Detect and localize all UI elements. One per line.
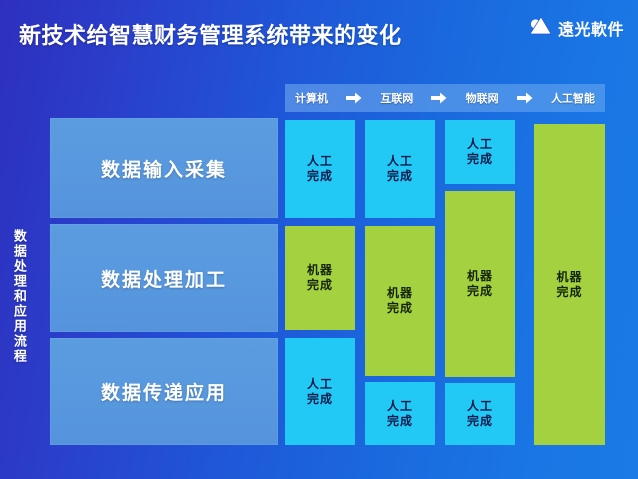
matrix-cell-human-2: 人工 完成 (285, 338, 355, 445)
brand-name: 遠光軟件 (558, 16, 624, 40)
stage-label-0: 计算机 (295, 90, 328, 106)
arrow-right-icon (431, 92, 447, 104)
matrix-cell-label: 人工 完成 (467, 399, 493, 429)
row-label-data-processing: 数据处理加工 (50, 224, 278, 332)
matrix-cell-human-3: 人工 完成 (365, 120, 435, 218)
stage-label-1: 互联网 (380, 90, 413, 106)
stage-label-3: 人工智能 (551, 90, 595, 106)
matrix-cell-label: 人工 完成 (307, 154, 333, 184)
stage-label-2: 物联网 (466, 90, 499, 106)
title-bar: 新技术给智慧财务管理系统带来的变化 遠光軟件 (0, 0, 638, 62)
matrix-cell-label: 人工 完成 (307, 377, 333, 407)
matrix-cell-label: 机器 完成 (467, 269, 493, 299)
vertical-axis-label-text: 数据处理和应用流程 (11, 229, 25, 364)
matrix-cell-label: 机器 完成 (556, 270, 582, 300)
matrix-cell-label: 人工 完成 (387, 399, 413, 429)
row-label-data-delivery: 数据传递应用 (50, 338, 278, 445)
matrix-cell-machine-1: 机器 完成 (285, 226, 355, 330)
vertical-axis-label: 数据处理和应用流程 (3, 186, 33, 406)
matrix-cell-machine-7: 机器 完成 (445, 191, 515, 377)
matrix-cell-human-0: 人工 完成 (285, 120, 355, 218)
matrix-cell-label: 机器 完成 (307, 263, 333, 293)
matrix-cell-human-8: 人工 完成 (445, 383, 515, 445)
matrix-cell-label: 人工 完成 (467, 137, 493, 167)
matrix-cell-human-5: 人工 完成 (365, 382, 435, 445)
row-label-text: 数据输入采集 (50, 155, 278, 182)
ygsoft-triangle-logo-icon (527, 15, 553, 41)
brand-logo: 遠光軟件 (527, 14, 624, 42)
matrix-cell-machine-4: 机器 完成 (365, 226, 435, 376)
arrow-right-icon (346, 92, 362, 104)
matrix-cell-machine-9: 机器 完成 (534, 124, 605, 445)
matrix-cell-label: 机器 完成 (387, 286, 413, 316)
page-title: 新技术给智慧财务管理系统带来的变化 (19, 18, 402, 50)
matrix-cell-human-6: 人工 完成 (445, 120, 515, 184)
stage-header-bar: 计算机互联网物联网人工智能 (285, 84, 605, 112)
matrix-cell-label: 人工 完成 (387, 154, 413, 184)
row-label-data-input: 数据输入采集 (50, 118, 278, 218)
row-label-text: 数据处理加工 (50, 265, 278, 292)
row-label-text: 数据传递应用 (50, 378, 278, 405)
arrow-right-icon (517, 92, 533, 104)
slide-canvas: 新技术给智慧财务管理系统带来的变化 遠光軟件 数据处理和应用流程 计算机互联网物… (0, 0, 638, 479)
